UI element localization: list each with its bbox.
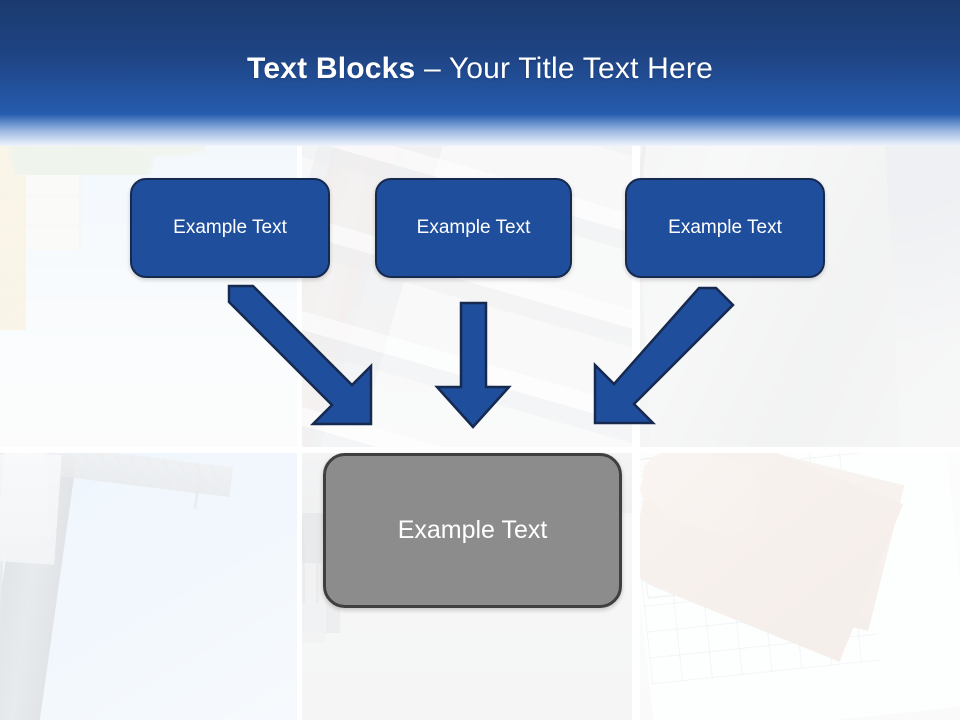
text-block-3-label: Example Text bbox=[668, 217, 782, 239]
text-block-1[interactable]: Example Text bbox=[130, 178, 330, 278]
page-title-regular: – Your Title Text Here bbox=[415, 52, 713, 85]
text-block-result[interactable]: Example Text bbox=[323, 453, 622, 608]
text-block-1-label: Example Text bbox=[173, 217, 287, 239]
page-title-bold: Text Blocks bbox=[247, 52, 415, 85]
photo-bottom-right bbox=[640, 453, 960, 720]
text-block-2[interactable]: Example Text bbox=[375, 178, 572, 278]
slide-header-banner: Text Blocks – Your Title Text Here bbox=[0, 0, 960, 146]
slide: S bbox=[0, 0, 960, 720]
text-block-2-label: Example Text bbox=[417, 217, 531, 239]
text-block-3[interactable]: Example Text bbox=[625, 178, 825, 278]
text-block-result-label: Example Text bbox=[398, 516, 548, 545]
page-title: Text Blocks – Your Title Text Here bbox=[0, 50, 960, 88]
photo-bottom-left: S bbox=[0, 453, 297, 720]
